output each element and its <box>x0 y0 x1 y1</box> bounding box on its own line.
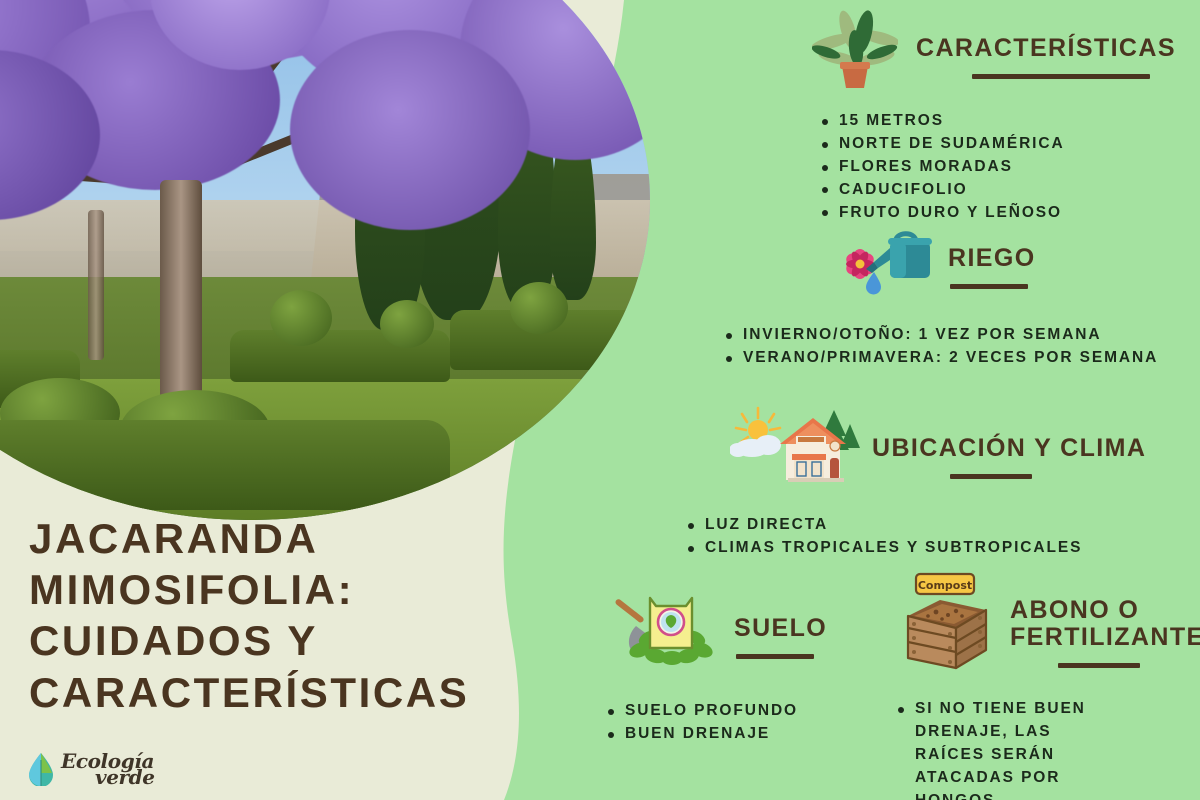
page-title: JACARANDA MIMOSIFOLIA: CUIDADOS Y CARACT… <box>29 513 549 718</box>
infographic-poster: JACARANDA MIMOSIFOLIA: CUIDADOS Y CARACT… <box>0 0 1200 800</box>
section-caracteristicas: CARACTERÍSTICAS 15 METROS NORTE DE SUDAM… <box>812 8 1192 225</box>
section-title-ubicacion: UBICACIÓN Y CLIMA <box>872 435 1146 479</box>
title-underline <box>950 474 1032 479</box>
section-title-suelo: SUELO <box>734 615 827 659</box>
section-title-text: UBICACIÓN Y CLIMA <box>872 434 1146 462</box>
list-item: LUZ DIRECTA <box>686 514 1192 537</box>
bullets-ubicacion: LUZ DIRECTA CLIMAS TROPICALES Y SUBTROPI… <box>686 514 1192 560</box>
compost-bin-icon: Compost <box>890 566 1002 670</box>
section-title-text: CARACTERÍSTICAS <box>916 34 1176 62</box>
soil-bag-icon <box>612 582 724 670</box>
section-title-caracteristicas: CARACTERÍSTICAS <box>916 35 1176 79</box>
title-underline <box>972 74 1150 79</box>
bullets-abono: SI NO TIENE BUEN DRENAJE, LAS RAÍCES SER… <box>896 698 1126 800</box>
potted-plant-icon <box>812 8 898 90</box>
bullets-suelo: SUELO PROFUNDO BUEN DRENAJE <box>606 700 870 746</box>
title-underline <box>736 654 814 659</box>
title-line-3: CUIDADOS Y <box>29 615 549 666</box>
section-riego: RIEGO INVIERNO/OTOÑO: 1 VEZ POR SEMANA V… <box>716 228 1196 370</box>
section-ubicacion-y-clima: UBICACIÓN Y CLIMA LUZ DIRECTA CLIMAS TRO… <box>672 400 1192 560</box>
section-title-abono: ABONO O FERTILIZANTE <box>1010 597 1200 668</box>
list-item: 15 METROS <box>820 110 1192 133</box>
brand-logo[interactable]: Ecología verde <box>28 752 155 786</box>
bullets-caracteristicas: 15 METROS NORTE DE SUDAMÉRICA FLORES MOR… <box>820 110 1192 225</box>
title-underline <box>950 284 1028 289</box>
hero-photo <box>0 0 650 520</box>
list-item: INVIERNO/OTOÑO: 1 VEZ POR SEMANA <box>724 324 1196 347</box>
title-underline <box>1058 663 1140 668</box>
section-title-line-2: FERTILIZANTE <box>1010 623 1200 651</box>
list-item: VERANO/PRIMAVERA: 2 VECES POR SEMANA <box>724 347 1196 370</box>
bullets-riego: INVIERNO/OTOÑO: 1 VEZ POR SEMANA VERANO/… <box>724 324 1196 370</box>
list-item: FRUTO DURO Y LEÑOSO <box>820 202 1192 225</box>
leaf-drop-icon <box>28 752 54 786</box>
list-item: NORTE DE SUDAMÉRICA <box>820 133 1192 156</box>
house-sun-icon <box>730 400 860 488</box>
section-title-text: SUELO <box>734 614 827 642</box>
compost-sign-label: Compost <box>918 579 972 592</box>
list-item: SI NO TIENE BUEN DRENAJE, LAS RAÍCES SER… <box>896 698 1126 800</box>
list-item: FLORES MORADAS <box>820 156 1192 179</box>
section-suelo: SUELO SUELO PROFUNDO BUEN DRENAJE <box>600 582 870 746</box>
list-item: CLIMAS TROPICALES Y SUBTROPICALES <box>686 537 1192 560</box>
logo-text-line-2: verde <box>95 769 155 785</box>
list-item: SUELO PROFUNDO <box>606 700 870 723</box>
title-line-2: MIMOSIFOLIA: <box>29 564 549 615</box>
list-item: BUEN DRENAJE <box>606 723 870 746</box>
title-line-4: CARACTERÍSTICAS <box>29 667 549 718</box>
section-title-riego: RIEGO <box>948 245 1036 289</box>
list-item: CADUCIFOLIO <box>820 179 1192 202</box>
title-line-1: JACARANDA <box>29 513 549 564</box>
section-abono-o-fertilizante: Compost <box>890 566 1190 800</box>
watering-can-icon <box>816 228 934 300</box>
section-title-text: RIEGO <box>948 244 1036 272</box>
section-title-line-1: ABONO O <box>1010 596 1139 624</box>
